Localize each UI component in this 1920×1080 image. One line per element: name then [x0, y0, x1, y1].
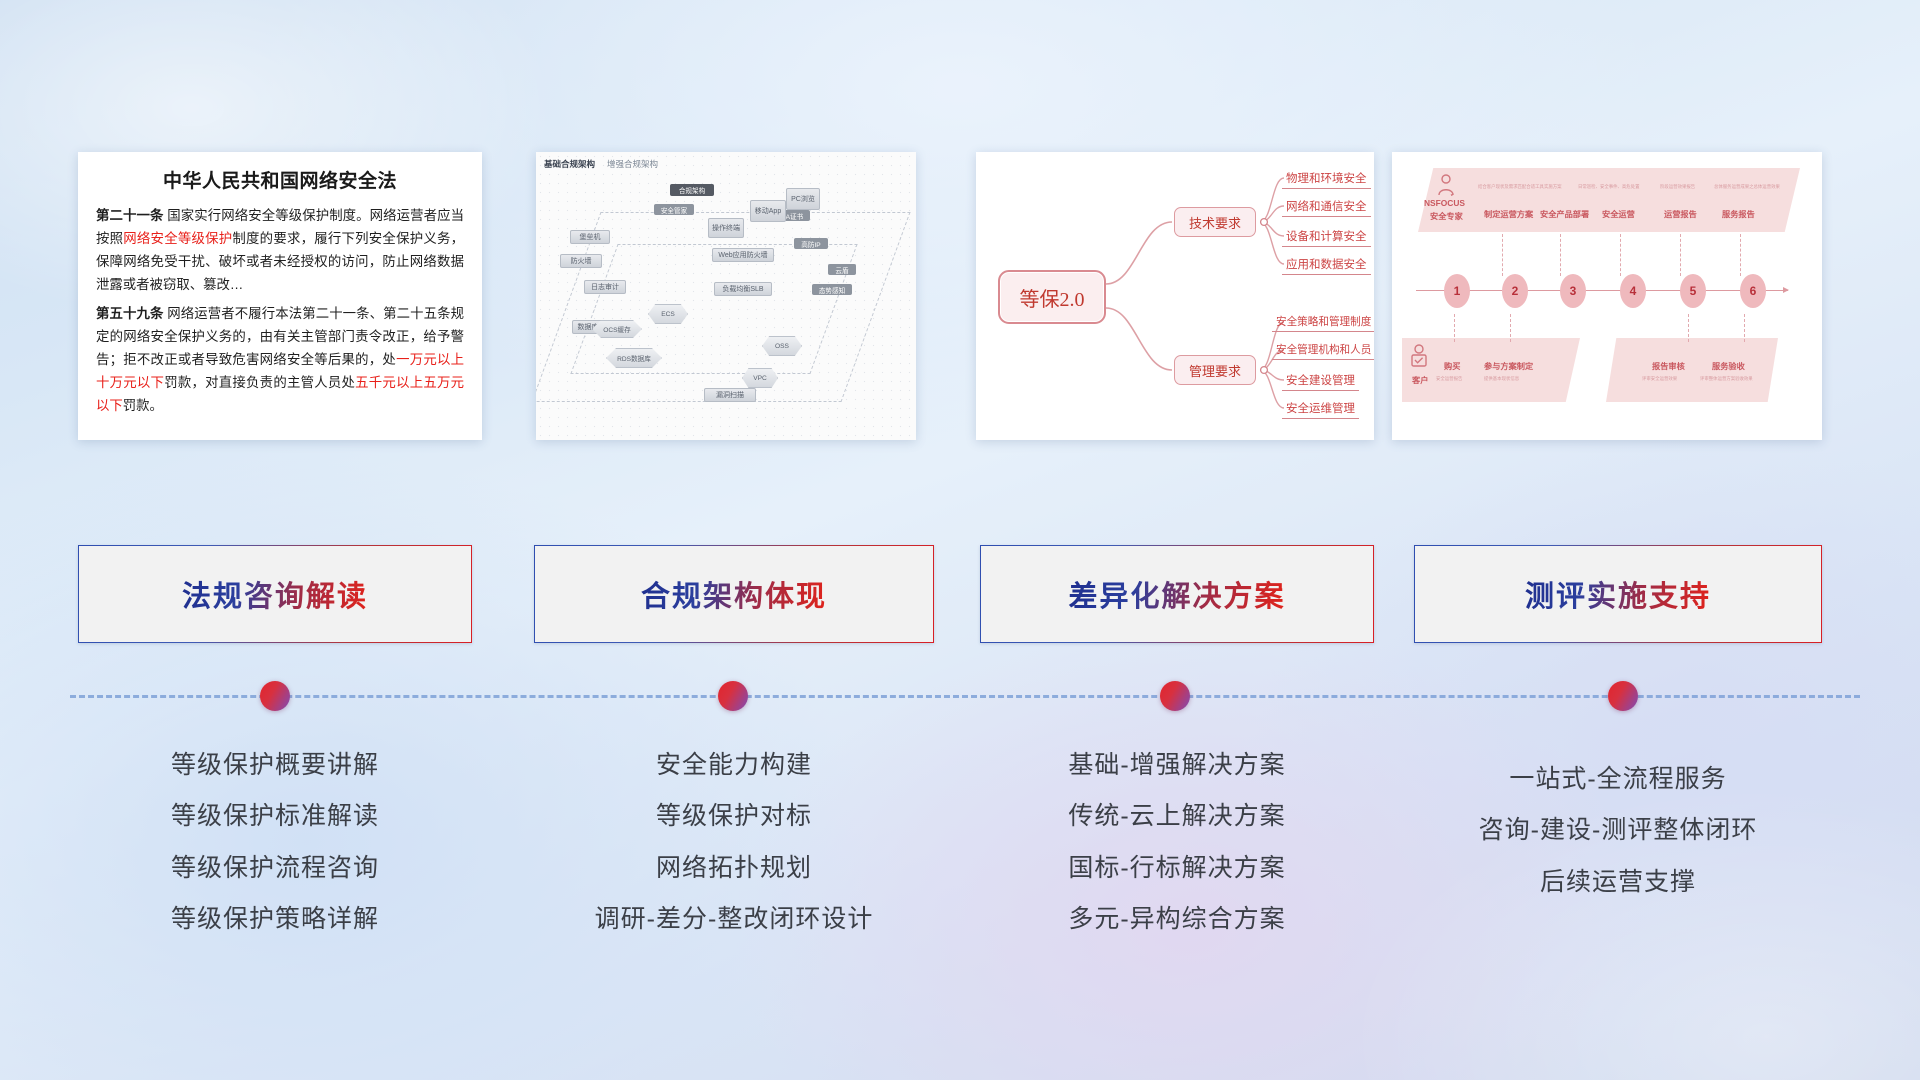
detail-column-4: 一站式-全流程服务 咨询-建设-测评整体闭环 后续运营支撑	[1414, 754, 1822, 908]
flow-bottom-title-4: 服务验收	[1712, 360, 1745, 372]
law-article-59: 第五十九条 网络运营者不履行本法第二十一条、第二十五条规定的网络安全保护义务的，…	[96, 302, 464, 417]
list-item: 国标-行标解决方案	[980, 843, 1374, 894]
node-pc-browse: PC浏览	[786, 188, 820, 210]
detail-column-2: 安全能力构建 等级保护对标 网络拓扑规划 调研-差分-整改闭环设计	[534, 740, 934, 945]
flow-leader-3	[1620, 234, 1621, 276]
chip-anti-ddos-ip: 高防IP	[794, 238, 828, 249]
flow-top-sub-5: 总体服务运营成果之总体运营效果	[1714, 184, 1780, 190]
mindmap-leaf-network-comm: 网络和通信安全	[1282, 198, 1371, 217]
flow-bottom-sub-3: 评审安全运营效果	[1642, 376, 1677, 382]
service-flow-canvas: NSFOCUS 安全专家 结合客户现状及需求匹配合适工具 制定运营方案 实施方案…	[1392, 152, 1822, 440]
flow-expert-role: 安全专家	[1430, 210, 1463, 222]
node-rds: RDS数据库	[606, 348, 662, 368]
flow-step-6: 6	[1740, 274, 1766, 308]
mindmap-branch-management: 管理要求	[1174, 355, 1256, 385]
flow-step-1: 1	[1444, 274, 1470, 308]
flow-top-title-2: 安全产品部署	[1540, 208, 1589, 220]
list-item: 调研-差分-整改闭环设计	[534, 894, 934, 945]
flow-top-sub-3: 日常巡检、安全事件、高危处置	[1578, 184, 1639, 190]
mindmap-leaf-policy-system: 安全策略和管理制度	[1272, 314, 1374, 332]
timeline-dot-3[interactable]	[1160, 681, 1190, 711]
arch-tab-enhanced: 增强合规架构	[607, 158, 658, 170]
law-text-card: 中华人民共和国网络安全法 第二十一条 国家实行网络安全等级保护制度。网络运营者应…	[78, 152, 482, 440]
flow-leader-6	[1454, 314, 1455, 342]
service-flow-card: NSFOCUS 安全专家 结合客户现状及需求匹配合适工具 制定运营方案 实施方案…	[1392, 152, 1822, 440]
mindmap-leaf-construction-mgmt: 安全建设管理	[1282, 372, 1359, 391]
heading-label-3: 差异化解决方案	[1068, 573, 1285, 615]
article-59-label: 第五十九条	[96, 306, 163, 321]
flow-leader-2	[1560, 234, 1561, 276]
timeline-dot-2[interactable]	[718, 681, 748, 711]
arch-tab-basic: 基础合规架构	[544, 158, 595, 170]
heading-row: 法规咨询解读 合规架构体现 差异化解决方案 测评实施支持	[0, 545, 1920, 647]
law-title: 中华人民共和国网络安全法	[96, 166, 464, 193]
flow-bottom-title-2: 参与方案制定	[1484, 360, 1533, 372]
list-item: 传统-云上解决方案	[980, 791, 1374, 842]
list-item: 等级保护概要讲解	[78, 740, 472, 791]
customer-icon	[1410, 344, 1428, 370]
list-item: 等级保护策略详解	[78, 894, 472, 945]
flow-leader-5	[1740, 234, 1741, 276]
mindmap-leaf-org-personnel: 安全管理机构和人员	[1272, 342, 1374, 360]
list-item: 等级保护对标	[534, 791, 934, 842]
node-mobile-app: 移动App	[750, 200, 786, 222]
flow-bottom-title-1: 购买	[1444, 360, 1460, 372]
flow-bottom-title-3: 报告审核	[1652, 360, 1685, 372]
flow-top-sub-1: 结合客户现状及需求匹配合适工具	[1478, 184, 1544, 190]
node-ecs: ECS	[648, 304, 688, 324]
chip-security-butler: 安全管家	[654, 204, 694, 215]
flow-top-sub-4: 阶段运营效果报告	[1660, 184, 1695, 190]
flow-step-4: 4	[1620, 274, 1646, 308]
list-item: 一站式-全流程服务	[1414, 754, 1822, 805]
chip-arch-title: 合规架构	[670, 184, 714, 196]
mindmap-canvas: 等保2.0 技术要求 管理要求 物理和环境安全 网络和通信安全 设备和计算安全 …	[976, 152, 1374, 440]
law-article-21: 第二十一条 国家实行网络安全等级保护制度。网络运营者应当按照网络安全等级保护制度…	[96, 204, 464, 296]
mindmap-branch-technical: 技术要求	[1174, 207, 1256, 237]
mindmap-leaf-physical-env: 物理和环境安全	[1282, 170, 1371, 189]
flow-customer-role: 客户	[1412, 374, 1428, 386]
flow-leader-9	[1744, 314, 1745, 342]
node-log-audit: 日志审计	[584, 280, 626, 294]
architecture-tabs: 基础合规架构 增强合规架构	[544, 158, 658, 170]
flow-bottom-sub-1: 安全运营报告	[1436, 376, 1462, 382]
list-item: 安全能力构建	[534, 740, 934, 791]
timeline-dot-4[interactable]	[1608, 681, 1638, 711]
node-waf: Web应用防火墙	[712, 248, 774, 262]
flow-expert-name: NSFOCUS	[1424, 198, 1465, 208]
heading-box-compliance-architecture[interactable]: 合规架构体现	[534, 545, 934, 643]
detail-column-1: 等级保护概要讲解 等级保护标准解读 等级保护流程咨询 等级保护策略详解	[78, 740, 472, 945]
flow-top-title-3: 安全运营	[1602, 208, 1635, 220]
node-firewall: 防火墙	[560, 254, 602, 268]
list-item: 基础-增强解决方案	[980, 740, 1374, 791]
flow-leader-4	[1680, 234, 1681, 276]
mindmap-leaf-device-compute: 设备和计算安全	[1282, 228, 1371, 247]
flow-band-provider	[1418, 168, 1800, 232]
chip-situational-awareness: 态势感知	[812, 284, 852, 295]
timeline-dot-1[interactable]	[260, 681, 290, 711]
list-item: 咨询-建设-测评整体闭环	[1414, 805, 1822, 856]
heading-box-differentiated-solution[interactable]: 差异化解决方案	[980, 545, 1374, 643]
mindmap-root-node: 等保2.0	[998, 270, 1106, 324]
flow-leader-8	[1688, 314, 1689, 342]
law-body: 中华人民共和国网络安全法 第二十一条 国家实行网络安全等级保护制度。网络运营者应…	[78, 152, 482, 433]
flow-top-title-1: 制定运营方案	[1484, 208, 1533, 220]
mindmap-leaf-ops-mgmt: 安全运维管理	[1282, 400, 1359, 419]
security-expert-icon	[1436, 174, 1456, 196]
flow-axis	[1416, 290, 1788, 291]
flow-band-customer-right	[1606, 338, 1778, 402]
node-slb: 负载均衡SLB	[714, 282, 772, 296]
article-59-text-b: 罚款，对直接负责的主管人员处	[164, 375, 355, 390]
mindmap-card: 等保2.0 技术要求 管理要求 物理和环境安全 网络和通信安全 设备和计算安全 …	[976, 152, 1374, 440]
node-ocs-cache: OCS缓存	[592, 320, 642, 338]
list-item: 多元-异构综合方案	[980, 894, 1374, 945]
flow-leader-7	[1510, 314, 1511, 342]
list-item: 网络拓扑规划	[534, 843, 934, 894]
node-operation-terminal: 操作终端	[708, 218, 744, 238]
detail-column-3: 基础-增强解决方案 传统-云上解决方案 国标-行标解决方案 多元-异构综合方案	[980, 740, 1374, 945]
flow-bottom-sub-2: 提供基本现状信息	[1484, 376, 1519, 382]
node-vuln-scan: 漏洞扫描	[704, 388, 756, 402]
node-vpc: VPC	[742, 368, 778, 388]
heading-label-4: 测评实施支持	[1525, 573, 1711, 615]
heading-box-assessment-support[interactable]: 测评实施支持	[1414, 545, 1822, 643]
article-59-text-c: 罚款。	[123, 398, 163, 413]
flow-top-title-4: 运营报告	[1664, 208, 1697, 220]
node-bastion-host: 堡垒机	[570, 230, 610, 244]
image-card-row: 中华人民共和国网络安全法 第二十一条 国家实行网络安全等级保护制度。网络运营者应…	[0, 152, 1920, 442]
mindmap-leaf-app-data: 应用和数据安全	[1282, 256, 1371, 275]
flow-top-title-5: 服务报告	[1722, 208, 1755, 220]
flow-step-3: 3	[1560, 274, 1586, 308]
list-item: 后续运营支撑	[1414, 857, 1822, 908]
flow-top-sub-2: 实施方案	[1544, 184, 1562, 190]
timeline-dashed-line	[70, 695, 1860, 698]
heading-box-regulation-consulting[interactable]: 法规咨询解读	[78, 545, 472, 643]
flow-bottom-sub-4: 评审整体运营方案验收效果	[1700, 376, 1753, 382]
architecture-canvas: 基础合规架构 增强合规架构 合规架构 安全管家 CA证书 高防IP 云盾 态势感…	[536, 152, 916, 440]
flow-leader-1	[1502, 234, 1503, 276]
article-21-label: 第二十一条	[96, 208, 163, 223]
chip-cloud-shield: 云盾	[828, 264, 856, 275]
architecture-diagram-card: 基础合规架构 增强合规架构 合规架构 安全管家 CA证书 高防IP 云盾 态势感…	[536, 152, 916, 440]
flow-step-2: 2	[1502, 274, 1528, 308]
node-oss: OSS	[762, 336, 802, 356]
timeline	[70, 695, 1860, 699]
article-21-highlight: 网络安全等级保护	[123, 231, 232, 246]
heading-label-1: 法规咨询解读	[182, 573, 368, 615]
heading-label-2: 合规架构体现	[641, 573, 827, 615]
flow-step-5: 5	[1680, 274, 1706, 308]
list-item: 等级保护流程咨询	[78, 843, 472, 894]
list-item: 等级保护标准解读	[78, 791, 472, 842]
